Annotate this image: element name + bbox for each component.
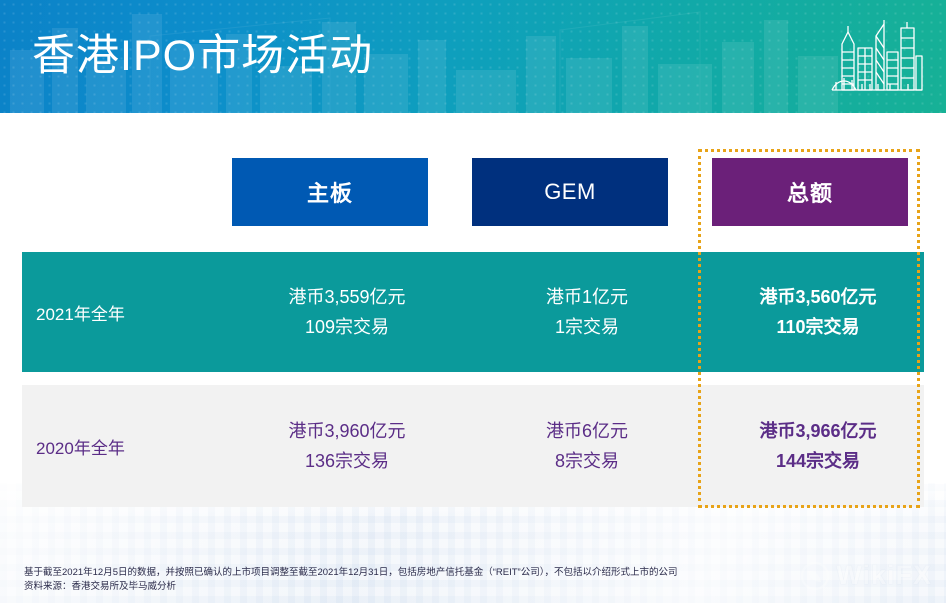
column-header-main-board-label: 主板 [307, 176, 353, 208]
row-label-2021: 2021年全年 [22, 252, 232, 372]
footnotes: 基于截至2021年12月5日的数据，并按照已确认的上市项目调整至截至2021年1… [24, 566, 724, 594]
footnote-basis: 基于截至2021年12月5日的数据，并按照已确认的上市项目调整至截至2021年1… [24, 566, 724, 580]
cell-amount: 港币3,560亿元 [759, 282, 876, 312]
ipo-activity-table: 主板 GEM 总额 2021年全年 港币3,559亿元 109宗交易 港币1亿元… [0, 113, 946, 543]
column-header-total-label: 总额 [787, 176, 833, 208]
cell-2020-total: 港币3,966亿元 144宗交易 [712, 385, 924, 507]
watermark: WikiFX [800, 560, 932, 591]
watermark-text: WikiFX [836, 560, 932, 591]
column-header-gem-label: GEM [544, 179, 596, 205]
cell-2021-gem: 港币1亿元 1宗交易 [472, 252, 702, 372]
cell-2021-main-board: 港币3,559亿元 109宗交易 [232, 252, 462, 372]
page-title: 香港IPO市场活动 [32, 26, 373, 86]
cell-deals: 144宗交易 [776, 446, 860, 476]
column-header-gem[interactable]: GEM [472, 158, 668, 226]
cell-amount: 港币3,559亿元 [288, 282, 405, 312]
table-row: 2020年全年 港币3,960亿元 136宗交易 港币6亿元 8宗交易 港币3,… [22, 385, 924, 507]
hong-kong-skyline-icon [828, 18, 924, 100]
wikifx-logo-icon [800, 561, 830, 591]
table-row: 2021年全年 港币3,559亿元 109宗交易 港币1亿元 1宗交易 港币3,… [22, 252, 924, 372]
header-banner: 香港IPO市场活动 [0, 0, 946, 113]
column-header-main-board[interactable]: 主板 [232, 158, 428, 226]
cell-deals: 110宗交易 [776, 312, 859, 342]
slide: 香港IPO市场活动 [0, 0, 946, 603]
cell-deals: 109宗交易 [305, 312, 389, 342]
cell-2020-main-board: 港币3,960亿元 136宗交易 [232, 385, 462, 507]
row-label-2020: 2020年全年 [22, 385, 232, 507]
row-label-2020-text: 2020年全年 [36, 434, 125, 459]
cell-deals: 1宗交易 [555, 312, 619, 342]
cell-amount: 港币6亿元 [546, 416, 628, 446]
cell-amount: 港币3,960亿元 [288, 416, 405, 446]
cell-deals: 8宗交易 [555, 446, 619, 476]
footnote-source: 资料来源：香港交易所及毕马威分析 [24, 580, 724, 594]
cell-2020-gem: 港币6亿元 8宗交易 [472, 385, 702, 507]
row-label-2021-text: 2021年全年 [36, 300, 125, 325]
cell-deals: 136宗交易 [305, 446, 389, 476]
table-column-headers: 主板 GEM 总额 [0, 113, 946, 233]
cell-amount: 港币3,966亿元 [759, 416, 876, 446]
cell-amount: 港币1亿元 [546, 282, 628, 312]
column-header-total[interactable]: 总额 [712, 158, 908, 226]
cell-2021-total: 港币3,560亿元 110宗交易 [712, 252, 924, 372]
